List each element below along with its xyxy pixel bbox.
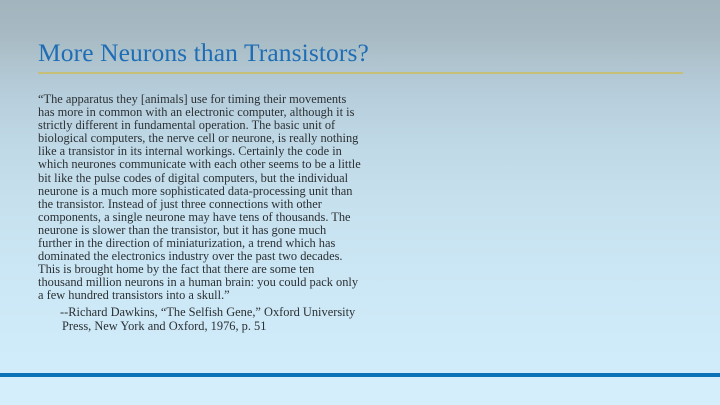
presentation-slide: More Neurons than Transistors? “The appa…	[0, 0, 720, 405]
attribution-text: --Richard Dawkins, “The Selfish Gene,” O…	[58, 306, 498, 333]
title-divider-rule	[38, 72, 683, 74]
title-block: More Neurons than Transistors?	[38, 38, 688, 68]
quote-block: “The apparatus they [animals] use for ti…	[38, 93, 498, 303]
attribution-block: --Richard Dawkins, “The Selfish Gene,” O…	[58, 306, 498, 333]
slide-footer: ECE 120: Introduction to Computing © 201…	[0, 377, 720, 405]
quote-text: “The apparatus they [animals] use for ti…	[38, 93, 498, 303]
page-title: More Neurons than Transistors?	[38, 38, 688, 68]
